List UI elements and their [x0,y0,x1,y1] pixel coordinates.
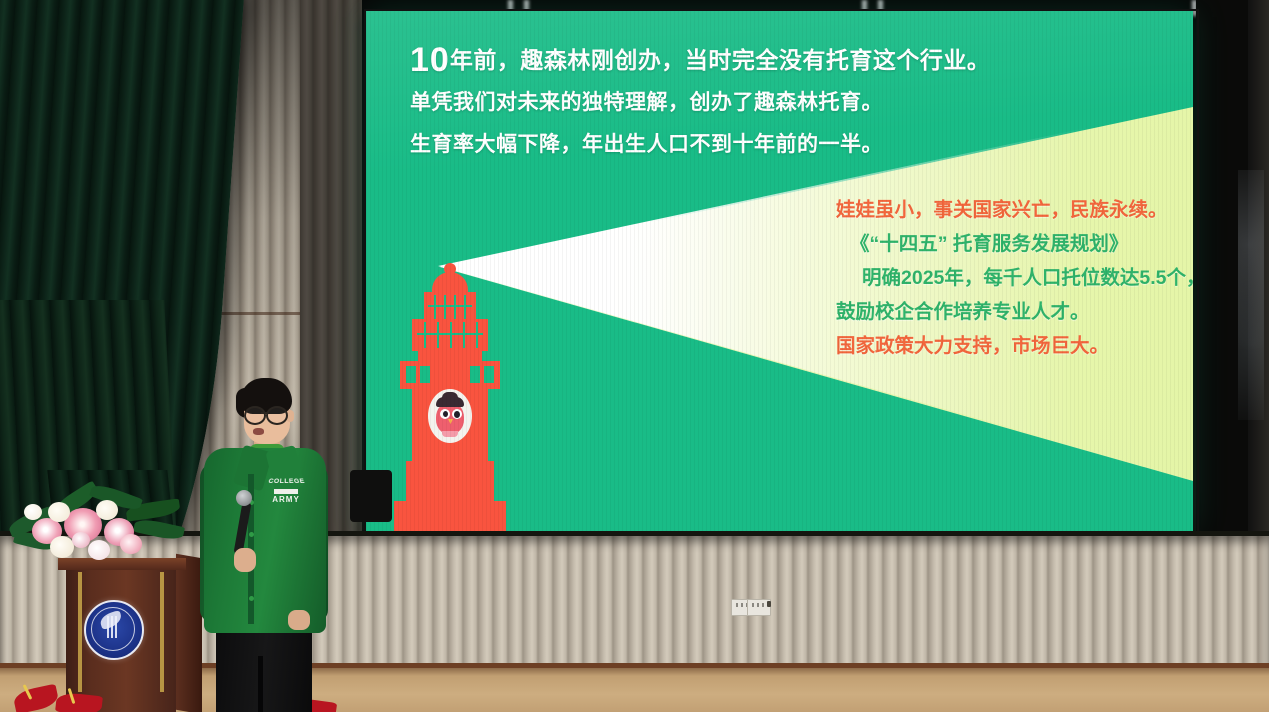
policy-line-3: 明确2025年，每千人口托位数达5.5个， [836,261,1186,295]
owl-pupil-left [443,411,448,417]
speaker-glasses-bridge [261,412,268,414]
jacket-logo-bar [274,489,298,494]
bouquet-rose-white [96,500,118,520]
lighthouse-lamp-window-grid [428,295,472,319]
chair-silhouette [350,470,392,522]
lighthouse-dome [432,272,468,294]
bouquet-rose-pink [88,540,110,560]
speaker-figure: COLLEGE ARMY [196,370,346,712]
policy-line-1: 娃娃虽小，事关国家兴亡，民族永续。 [836,193,1186,227]
policy-line-2: 《“十四五” 托育服务发展规划》 [836,227,1186,261]
wall-sensor-dot [767,601,771,607]
presentation-screen[interactable]: 10年前，趣森林刚创办，当时完全没有托育这个行业。 单凭我们对未来的独特理解，创… [366,11,1193,531]
speaker-hand-in-pocket [288,610,310,630]
speaker-glasses-right-lens [266,406,288,425]
seal-emblem-bars [103,616,121,638]
jacket-button [249,596,254,601]
speaker-trousers [216,620,312,712]
speaker-leg-gap [258,656,263,712]
headline-line-3: 生育率大幅下降，年出生人口不到十年前的一半。 [410,131,970,159]
headline-line-1: 10年前，趣森林刚创办，当时完全没有托育这个行业。 [410,45,970,75]
flower-bouquet [8,488,188,578]
policy-line-4: 鼓励校企合作培养专业人才。 [836,295,1186,329]
lighthouse-base [394,501,506,531]
lighthouse-window [484,366,494,383]
bouquet-filler-flower [72,532,90,548]
podium-gold-rail [78,572,82,692]
auditorium-scene: 10年前，趣森林刚创办，当时完全没有托育这个行业。 单凭我们对未来的独特理解，创… [0,0,1269,712]
lighthouse-gallery-window-grid [417,322,483,348]
owl-hat-brim [436,397,464,407]
policy-line-5: 国家政策大力支持，市场巨大。 [836,329,1186,363]
bouquet-filler-flower [24,504,42,520]
bouquet-rose-white [48,502,70,522]
lighthouse-window [470,366,480,383]
headline-line-1-text: 年前，趣森林刚创办，当时完全没有托育这个行业。 [450,47,991,73]
lighthouse-mascot [384,261,516,531]
jacket-logo-bottom-text: ARMY [268,495,304,504]
microphone-head [236,490,252,506]
bouquet-leaf [133,517,185,542]
speaker-glasses-left-lens [244,406,266,425]
owl-feet [442,431,458,437]
speaker-hand-holding-mic [234,548,256,572]
speaker-mouth [253,428,264,435]
podium-gold-rail [160,572,164,692]
bouquet-rose-white [50,536,74,558]
jacket-chest-logo: COLLEGE ARMY [268,476,304,506]
owl-pupil-right [454,411,460,418]
lighthouse-window [406,366,416,383]
slide-headline-block: 10年前，趣森林刚创办，当时完全没有托育这个行业。 单凭我们对未来的独特理解，创… [410,45,970,159]
bouquet-rose-pink [120,534,142,554]
glass-reflection [1238,170,1264,420]
headline-lead-number: 10 [410,41,450,79]
jacket-button [249,532,254,537]
lighthouse-window [420,366,430,383]
policy-text-block: 娃娃虽小，事关国家兴亡，民族永续。 《“十四五” 托育服务发展规划》 明确202… [836,193,1186,363]
headline-line-2: 单凭我们对未来的独特理解，创办了趣森林托育。 [410,89,970,117]
